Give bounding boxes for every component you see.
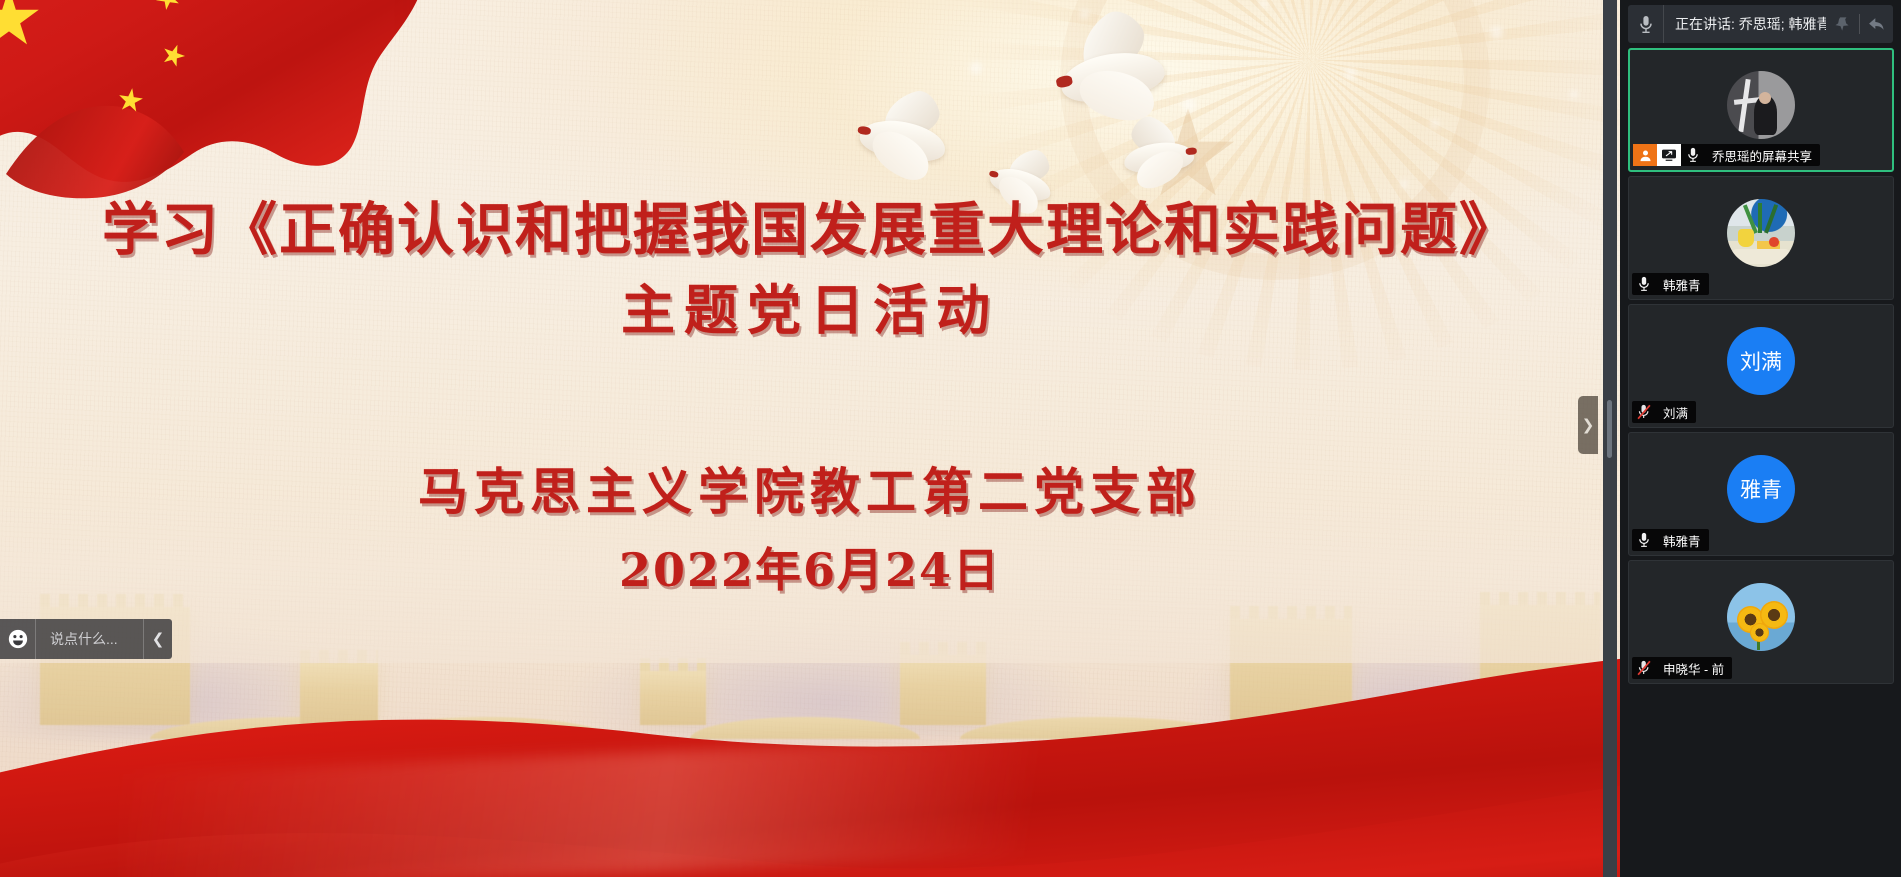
shared-screen-stage: 学习《正确认识和把握我国发展重大理论和实践问题》 主题党日活动 马克思主义学院教…: [0, 0, 1620, 877]
avatar: [1727, 199, 1795, 267]
speaking-status-bar: 正在讲话: 乔思瑶; 韩雅青;: [1628, 5, 1893, 43]
participant-label: 申晓华 - 前: [1632, 657, 1732, 679]
avatar-initials: 刘满: [1740, 346, 1782, 376]
participant-label: 乔思瑶的屏幕共享: [1633, 144, 1820, 166]
microphone-icon: [1632, 529, 1656, 551]
participants-sidebar: 正在讲话: 乔思瑶; 韩雅青;: [1620, 0, 1901, 877]
microphone-muted-icon: [1632, 401, 1656, 423]
participant-label: 刘满: [1632, 401, 1696, 423]
host-icon: [1633, 144, 1657, 166]
slide-title-line-2: 主题党日活动: [0, 266, 1620, 345]
participant-label: 韩雅青: [1632, 529, 1709, 551]
avatar-initials: 雅青: [1740, 474, 1782, 504]
participant-tile[interactable]: 乔思瑶的屏幕共享: [1628, 48, 1894, 172]
screen-share-icon: [1657, 144, 1681, 166]
stage-scrollbar[interactable]: [1603, 0, 1617, 877]
chevron-left-icon[interactable]: ❮: [144, 619, 172, 659]
microphone-icon: [1632, 273, 1656, 295]
microphone-icon: [1628, 5, 1664, 43]
smiley-icon[interactable]: [0, 619, 36, 659]
avatar: 刘满: [1727, 327, 1795, 395]
chat-input[interactable]: 说点什么...: [36, 619, 144, 659]
back-arrow-icon[interactable]: [1860, 5, 1893, 43]
pin-icon[interactable]: [1826, 5, 1859, 43]
participant-tile[interactable]: 申晓华 - 前: [1628, 560, 1894, 684]
slide-text-block: 学习《正确认识和把握我国发展重大理论和实践问题》 主题党日活动 马克思主义学院教…: [0, 0, 1620, 877]
participant-tile[interactable]: 雅青 韩雅青: [1628, 432, 1894, 556]
slide-org-line: 马克思主义学院教工第二党支部: [0, 452, 1620, 524]
slide-date-line: 2022年6月24日: [0, 534, 1620, 600]
participant-name: 申晓华 - 前: [1656, 659, 1724, 678]
avatar: 雅青: [1727, 455, 1795, 523]
expand-panel-button[interactable]: ❯: [1578, 396, 1598, 454]
participant-tiles: 乔思瑶的屏幕共享: [1628, 48, 1894, 688]
participant-tile[interactable]: 刘满 刘满: [1628, 304, 1894, 428]
slide-title-line-1: 学习《正确认识和把握我国发展重大理论和实践问题》: [0, 184, 1620, 266]
participant-name: 韩雅青: [1656, 275, 1701, 294]
avatar: [1727, 71, 1795, 139]
scrollbar-thumb[interactable]: [1607, 400, 1612, 458]
participant-name: 乔思瑶的屏幕共享: [1705, 146, 1812, 165]
microphone-icon: [1681, 144, 1705, 166]
microphone-muted-icon: [1632, 657, 1656, 679]
participant-label: 韩雅青: [1632, 273, 1709, 295]
speaking-status-text: 正在讲话: 乔思瑶; 韩雅青;: [1664, 14, 1826, 34]
presentation-slide: 学习《正确认识和把握我国发展重大理论和实践问题》 主题党日活动 马克思主义学院教…: [0, 0, 1620, 877]
meeting-window: 学习《正确认识和把握我国发展重大理论和实践问题》 主题党日活动 马克思主义学院教…: [0, 0, 1901, 877]
participant-name: 刘满: [1656, 403, 1688, 422]
avatar: [1727, 583, 1795, 651]
participant-tile[interactable]: 韩雅青: [1628, 176, 1894, 300]
chat-input-bar[interactable]: 说点什么... ❮: [0, 619, 172, 659]
participant-name: 韩雅青: [1656, 531, 1701, 550]
